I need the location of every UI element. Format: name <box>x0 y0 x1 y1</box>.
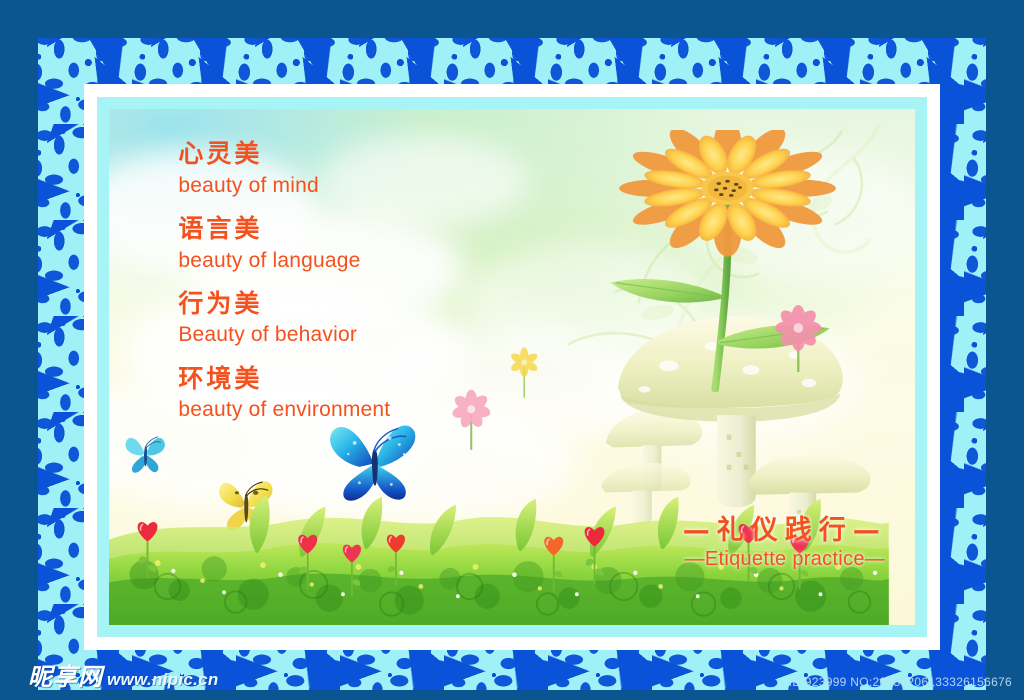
illustration-area: 心灵美 beauty of mind 语言美 beauty of languag… <box>109 109 915 625</box>
poster-canvas: 心灵美 beauty of mind 语言美 beauty of languag… <box>0 0 1024 700</box>
slogan-cn-3: 环境美 <box>178 362 629 396</box>
heart-flower-icon <box>379 530 413 587</box>
daisy-flower-icon <box>593 130 867 429</box>
slogan-list: 心灵美 beauty of mind 语言美 beauty of languag… <box>178 137 629 436</box>
poster-title-cn: —礼仪践行— <box>683 508 887 547</box>
poster-title-en: —Etiquette practice— <box>683 548 887 571</box>
slogan-cn-1: 语言美 <box>178 212 629 246</box>
mushroom-cluster-icon <box>601 284 891 542</box>
slogan-en-1: beauty of language <box>178 247 629 274</box>
heart-flower-icon <box>536 532 571 591</box>
heart-flower-icon <box>576 522 613 584</box>
heart-flower-icon <box>335 540 369 597</box>
cyan-butterfly-icon <box>121 429 169 475</box>
slogan-en-3: beauty of environment <box>178 396 629 423</box>
poster-title: —礼仪践行— —Etiquette practice— <box>683 508 887 571</box>
slogan-en-0: beauty of mind <box>178 172 629 199</box>
heart-flower-icon <box>290 530 325 589</box>
slogan-cn-2: 行为美 <box>178 287 629 321</box>
yellow-butterfly-icon <box>210 470 283 537</box>
heart-flower-icon <box>129 517 166 579</box>
cloud-icon <box>593 315 867 449</box>
slogan-en-2: Beauty of behavior <box>178 321 629 348</box>
cloud-icon <box>689 150 915 284</box>
pink-blossom-icon <box>758 305 839 372</box>
slogan-cn-0: 心灵美 <box>178 137 629 171</box>
